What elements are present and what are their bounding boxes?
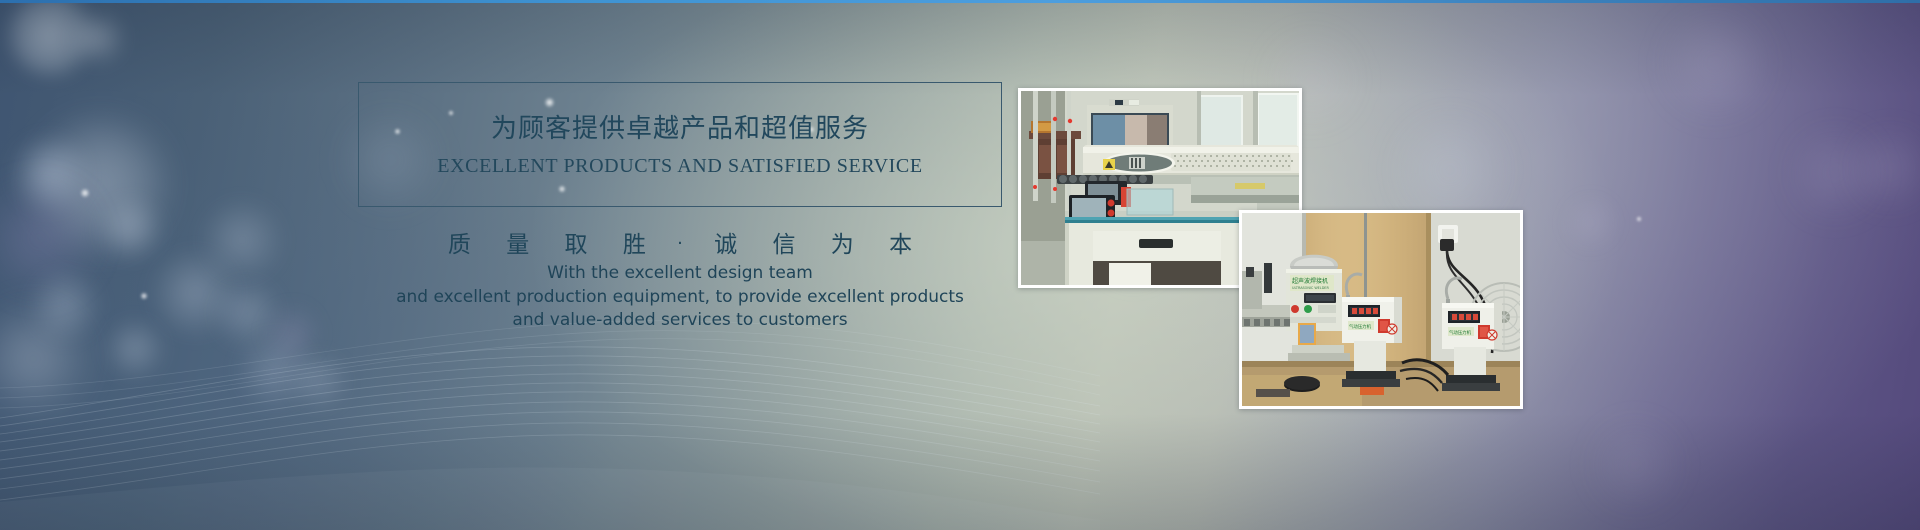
svg-text:气动压力机: 气动压力机	[1349, 323, 1372, 330]
description-paragraph: With the excellent design team and excel…	[300, 262, 1060, 333]
slogan-char: 质	[448, 225, 471, 259]
banner-text-zone: 为顾客提供卓越产品和超值服务 EXCELLENT PRODUCTS AND SA…	[0, 0, 1030, 530]
svg-text:ULTRASONIC WELDER: ULTRASONIC WELDER	[1292, 286, 1329, 290]
slogan-char: 取	[565, 225, 588, 259]
promo-banner: 为顾客提供卓越产品和超值服务 EXCELLENT PRODUCTS AND SA…	[0, 0, 1920, 530]
slogan-char: 胜	[623, 225, 646, 259]
slogan-char: 信	[772, 225, 795, 259]
svg-text:气动压力机: 气动压力机	[1449, 329, 1472, 336]
slogan-char: 本	[889, 225, 912, 259]
slogan-char: 诚	[714, 225, 737, 259]
testing-equipment-photo: 超声波焊接机 ULTRASONIC WELDER	[1239, 210, 1523, 409]
slogan-char: 为	[831, 225, 854, 259]
slogan-line: 质 量 取 胜 · 诚 信 为 本	[358, 225, 1002, 259]
slogan-separator: ·	[677, 233, 683, 254]
photo-2-content: 超声波焊接机 ULTRASONIC WELDER	[1242, 213, 1520, 406]
slogan-char: 量	[506, 225, 529, 259]
paragraph-line-3: and value-added services to customers	[300, 309, 1060, 333]
svg-text:超声波焊接机: 超声波焊接机	[1292, 277, 1328, 285]
headline-chinese: 为顾客提供卓越产品和超值服务	[358, 108, 1002, 145]
headline-english: EXCELLENT PRODUCTS AND SATISFIED SERVICE	[358, 155, 1002, 178]
paragraph-line-2: and excellent production equipment, to p…	[300, 286, 1060, 310]
paragraph-line-1: With the excellent design team	[300, 262, 1060, 286]
